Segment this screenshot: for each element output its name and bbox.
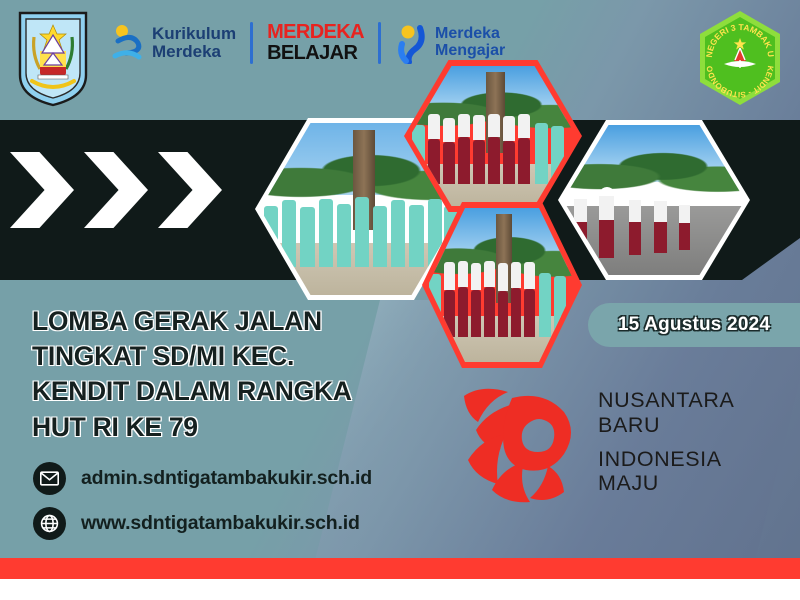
merdeka-belajar-label: MERDEKA BELAJAR [267, 22, 364, 64]
chevron-right-icon [84, 152, 148, 228]
kurikulum-merdeka-icon [112, 23, 146, 63]
merdeka-belajar-logo: MERDEKA BELAJAR [253, 22, 378, 64]
title-line: KENDIT DALAM RANGKA [32, 374, 432, 409]
event-date-label: 15 Agustus 2024 [618, 314, 770, 336]
bottom-red-stripe [0, 558, 800, 579]
tagline-line: MAJU [598, 471, 734, 496]
anniversary-logo: NUSANTARA BARU INDONESIA MAJU [452, 378, 734, 506]
chevron-arrows-group [10, 152, 240, 228]
header-logo-bar: Kurikulum Merdeka MERDEKA BELAJAR [0, 0, 800, 120]
kurikulum-merdeka-logo: Kurikulum Merdeka [98, 23, 250, 63]
school-hexagon-logo: SD NEGERI 3 TAMBAK UKIR KENDIT - SITUBON… [694, 8, 786, 108]
title-line: TINGKAT SD/MI KEC. [32, 339, 432, 374]
situbondo-regency-emblem [12, 5, 94, 109]
merdeka-mengajar-label: Merdeka Mengajar [435, 26, 505, 59]
title-line: HUT RI KE 79 [32, 410, 432, 445]
kurikulum-merdeka-label: Kurikulum Merdeka [152, 25, 236, 60]
contact-website-label: www.sdntigatambakukir.sch.id [81, 512, 360, 535]
contact-email-label: admin.sdntigatambakukir.sch.id [81, 467, 372, 490]
tagline-line: INDONESIA [598, 447, 734, 472]
contact-email[interactable]: admin.sdntigatambakukir.sch.id [33, 462, 372, 495]
poster-canvas: Kurikulum Merdeka MERDEKA BELAJAR [0, 0, 800, 600]
chevron-right-icon [158, 152, 222, 228]
envelope-icon [33, 462, 66, 495]
photo-scene [563, 125, 745, 275]
event-date-badge: 15 Agustus 2024 [588, 303, 800, 347]
bottom-white-stripe [0, 579, 800, 600]
chevron-right-icon [10, 152, 74, 228]
tagline-line: BARU [598, 413, 734, 438]
globe-icon [33, 507, 66, 540]
contact-website[interactable]: www.sdntigatambakukir.sch.id [33, 507, 372, 540]
merdeka-mengajar-icon [395, 22, 429, 64]
anniversary-79-icon [452, 378, 582, 506]
tagline-line: NUSANTARA [598, 388, 734, 413]
page-title: LOMBA GERAK JALAN TINGKAT SD/MI KEC. KEN… [32, 304, 432, 445]
title-line: LOMBA GERAK JALAN [32, 304, 432, 339]
anniversary-tagline: NUSANTARA BARU INDONESIA MAJU [598, 388, 734, 497]
merdeka-mengajar-logo: Merdeka Mengajar [381, 22, 519, 64]
program-logo-row: Kurikulum Merdeka MERDEKA BELAJAR [98, 14, 519, 72]
photo-scene [428, 208, 576, 362]
contact-list: admin.sdntigatambakukir.sch.id www.sdnti… [33, 462, 372, 552]
